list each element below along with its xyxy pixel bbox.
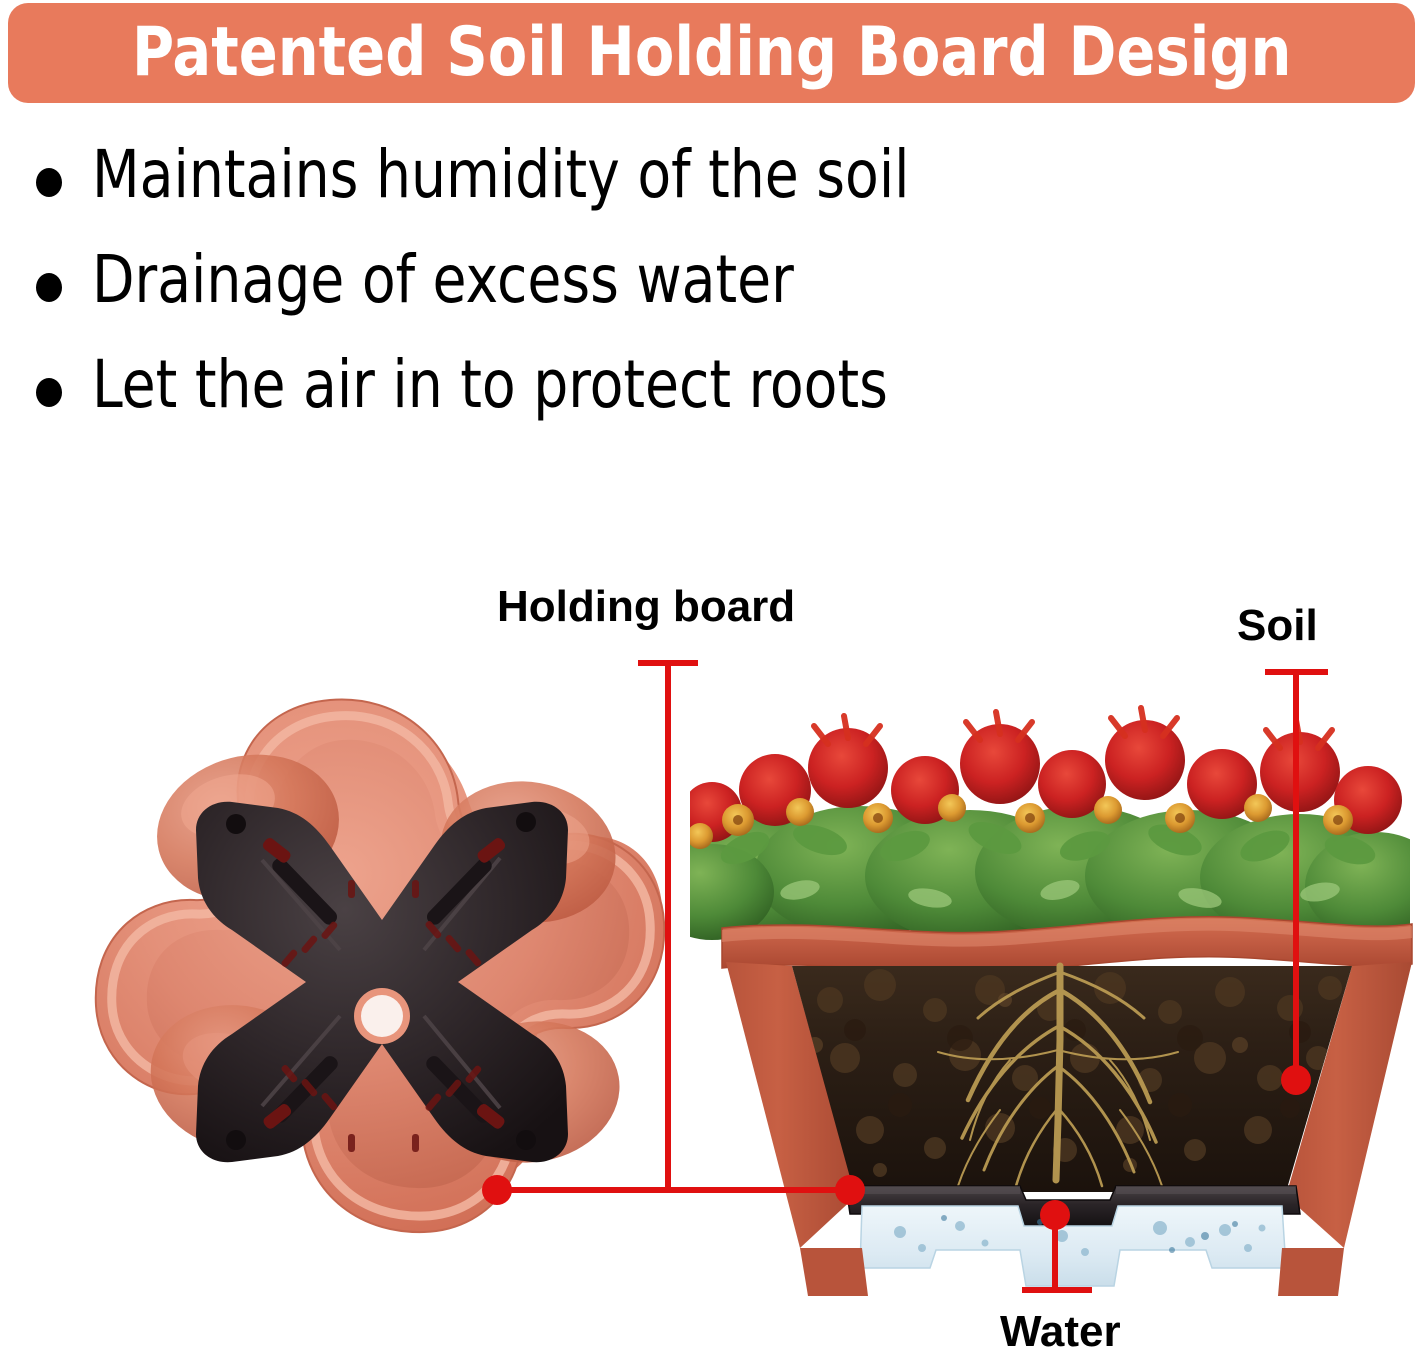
callout-label-water: Water [1000, 1310, 1121, 1354]
orange-buds [687, 794, 1353, 849]
list-item: Drainage of excess water [36, 245, 1136, 350]
callout-label-soil: Soil [1237, 604, 1318, 648]
drain-hole [354, 988, 410, 1044]
leaf-sprigs [716, 815, 1379, 870]
left-planter-illustration [96, 699, 664, 1232]
callout-dots [482, 1065, 1311, 1230]
water-reservoir [860, 1206, 1286, 1286]
soil-mass [792, 966, 1352, 1192]
planter-inner-cavity [147, 740, 629, 1188]
callout-lines [497, 663, 1328, 1290]
soil-holding-board [196, 802, 568, 1162]
callout-label-holding-board: Holding board [497, 585, 795, 629]
board-ribs [262, 858, 500, 1108]
callout-dot-soil [1281, 1065, 1311, 1095]
bowl-lobe-top-right [429, 768, 627, 936]
board-vent-slots [269, 855, 494, 1125]
bowl-highlight-bl [177, 1024, 276, 1100]
feature-label: Drainage of excess water [92, 245, 794, 315]
flower-petals [814, 708, 1332, 748]
planter-rim [722, 917, 1412, 973]
board-perforations [280, 880, 482, 1152]
planter-right-wall [1286, 962, 1412, 1248]
planter-body [96, 699, 664, 1232]
water-droplets [941, 1215, 1238, 1253]
bowl-highlight-tl [174, 764, 283, 848]
callout-dot-holding-board-right [835, 1175, 865, 1205]
list-item: Maintains humidity of the soil [36, 140, 1136, 245]
bowl-lobe-bottom-left [137, 989, 343, 1167]
bowl-highlight-tr [497, 799, 595, 872]
leaf-highlights [779, 876, 1342, 911]
board-mount-holes [226, 812, 536, 1150]
feature-list: Maintains humidity of the soil Drainage … [36, 140, 1136, 455]
bowl-lobe-bottom-right [433, 1008, 631, 1176]
planter-foot-right [1278, 1248, 1344, 1296]
list-item: Let the air in to protect roots [36, 350, 1136, 455]
bullet-dot-icon [36, 168, 62, 197]
bud-centers [733, 813, 1343, 825]
planter-outer-rim [177, 712, 663, 1189]
callout-dot-holding-board-left [482, 1175, 512, 1205]
holding-board-x-shape [196, 802, 568, 1162]
planter-rim-highlight [112, 716, 651, 1216]
drain-hole-inner [361, 995, 403, 1037]
planter-foot-left [800, 1248, 868, 1296]
plant-foliage [650, 708, 1424, 942]
bullet-dot-icon [36, 273, 62, 302]
red-flowers [682, 720, 1402, 842]
planter-rim-highlight-band [722, 919, 1412, 947]
planter-left-wall [726, 962, 856, 1248]
bullet-dot-icon [36, 378, 62, 407]
holding-board-slab [846, 1186, 1300, 1226]
feature-label: Maintains humidity of the soil [92, 140, 910, 210]
feature-label: Let the air in to protect roots [92, 350, 888, 420]
callout-dot-water [1040, 1200, 1070, 1230]
right-planter-illustration [650, 708, 1424, 1296]
page-title: Patented Soil Holding Board Design [132, 19, 1291, 87]
board-corner-slots [261, 836, 507, 1131]
bowl-lobe-top-left [141, 736, 354, 920]
header-banner: Patented Soil Holding Board Design [8, 3, 1415, 103]
root-system [938, 966, 1178, 1186]
holding-board-slab-highlight [846, 1186, 1296, 1194]
soil-texture [807, 969, 1342, 1177]
water-bubbles [894, 1221, 1266, 1256]
